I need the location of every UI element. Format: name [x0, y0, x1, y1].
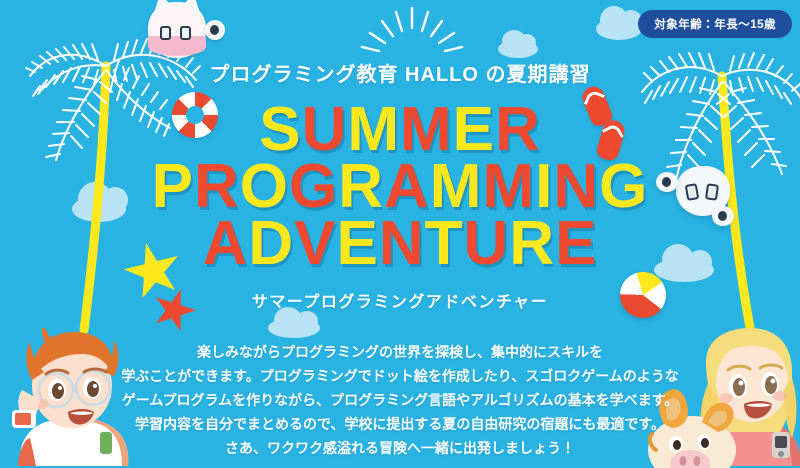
title-letter: D — [248, 214, 294, 275]
page-title: SUMMER PROGRAMMING ADVENTURE — [0, 100, 800, 274]
title-letter: E — [336, 214, 378, 275]
page-kicker: プログラミング教育 HALLO の夏期講習 — [0, 58, 800, 87]
body-copy-line: 学習内容を自分でまとめるので、学校に提出する夏の自由研究の宿題にも最適です。 — [0, 412, 800, 436]
body-copy-line: 楽しみながらプログラミングの世界を探検し、集中的にスキルを — [0, 340, 800, 364]
cloud-icon — [596, 18, 642, 40]
body-copy-line: ゲームプログラムを作りながら、プログラミング言語やアルゴリズムの基本を学べます。 — [0, 388, 800, 412]
cloud-icon — [498, 40, 538, 58]
body-copy: 楽しみながらプログラミングの世界を探検し、集中的にスキルを学ぶことができます。プ… — [0, 340, 800, 460]
title-letter: V — [294, 214, 336, 275]
title-letter: R — [509, 214, 555, 275]
title-line-adventure: ADVENTURE — [0, 214, 800, 275]
poster-canvas: 対象年齢：年長〜15歳 プログラミング教育 HALLO の夏期講習 SUMMER… — [0, 0, 800, 468]
cat-robot-small-icon — [205, 20, 225, 40]
title-letter: U — [464, 214, 510, 275]
title-letter: P — [152, 157, 194, 218]
age-range-badge: 対象年齢：年長〜15歳 — [638, 10, 792, 38]
cloud-icon — [268, 318, 320, 338]
body-copy-line: さあ、ワクワク感溢れる冒険へ一緒に出発しましょう！ — [0, 436, 800, 460]
title-letter: N — [379, 214, 425, 275]
sunburst-rays-icon — [352, 6, 472, 60]
page-subtitle: サマープログラミングアドベンチャー — [0, 288, 800, 312]
title-letter: T — [425, 214, 464, 275]
title-letter: G — [599, 157, 648, 218]
cat-robot-icon — [148, 2, 206, 58]
body-copy-line: 学ぶことができます。プログラミングでドット絵を作成したり、スゴロクゲームのような — [0, 364, 800, 388]
title-letter: A — [203, 214, 249, 275]
title-letter: E — [555, 214, 597, 275]
